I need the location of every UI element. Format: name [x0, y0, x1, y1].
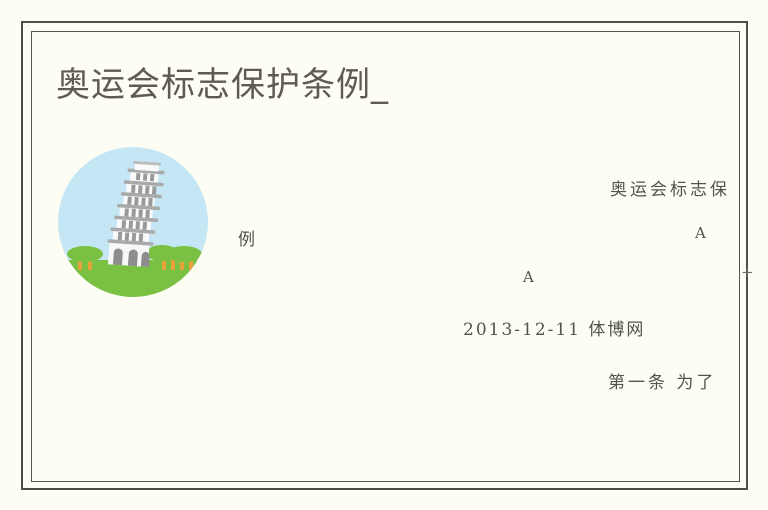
body-text-date-source: 2013-12-11 体博网 — [463, 315, 645, 340]
body-text-clause-one: 第一条 为了 — [608, 368, 716, 393]
body-text-headline: 奥运会标志保 — [610, 175, 730, 200]
body-text-example: 例 — [238, 225, 257, 250]
plus-marker-icon: + — [741, 263, 754, 281]
body-text-letter-a-second: A — [523, 268, 534, 286]
body-text-letter-a-first: A — [695, 224, 706, 242]
leaning-tower-of-pisa-icon — [58, 147, 208, 297]
document-preview-page: 奥运会标志保护条例_ — [0, 0, 768, 510]
page-title: 奥运会标志保护条例_ — [56, 63, 389, 107]
